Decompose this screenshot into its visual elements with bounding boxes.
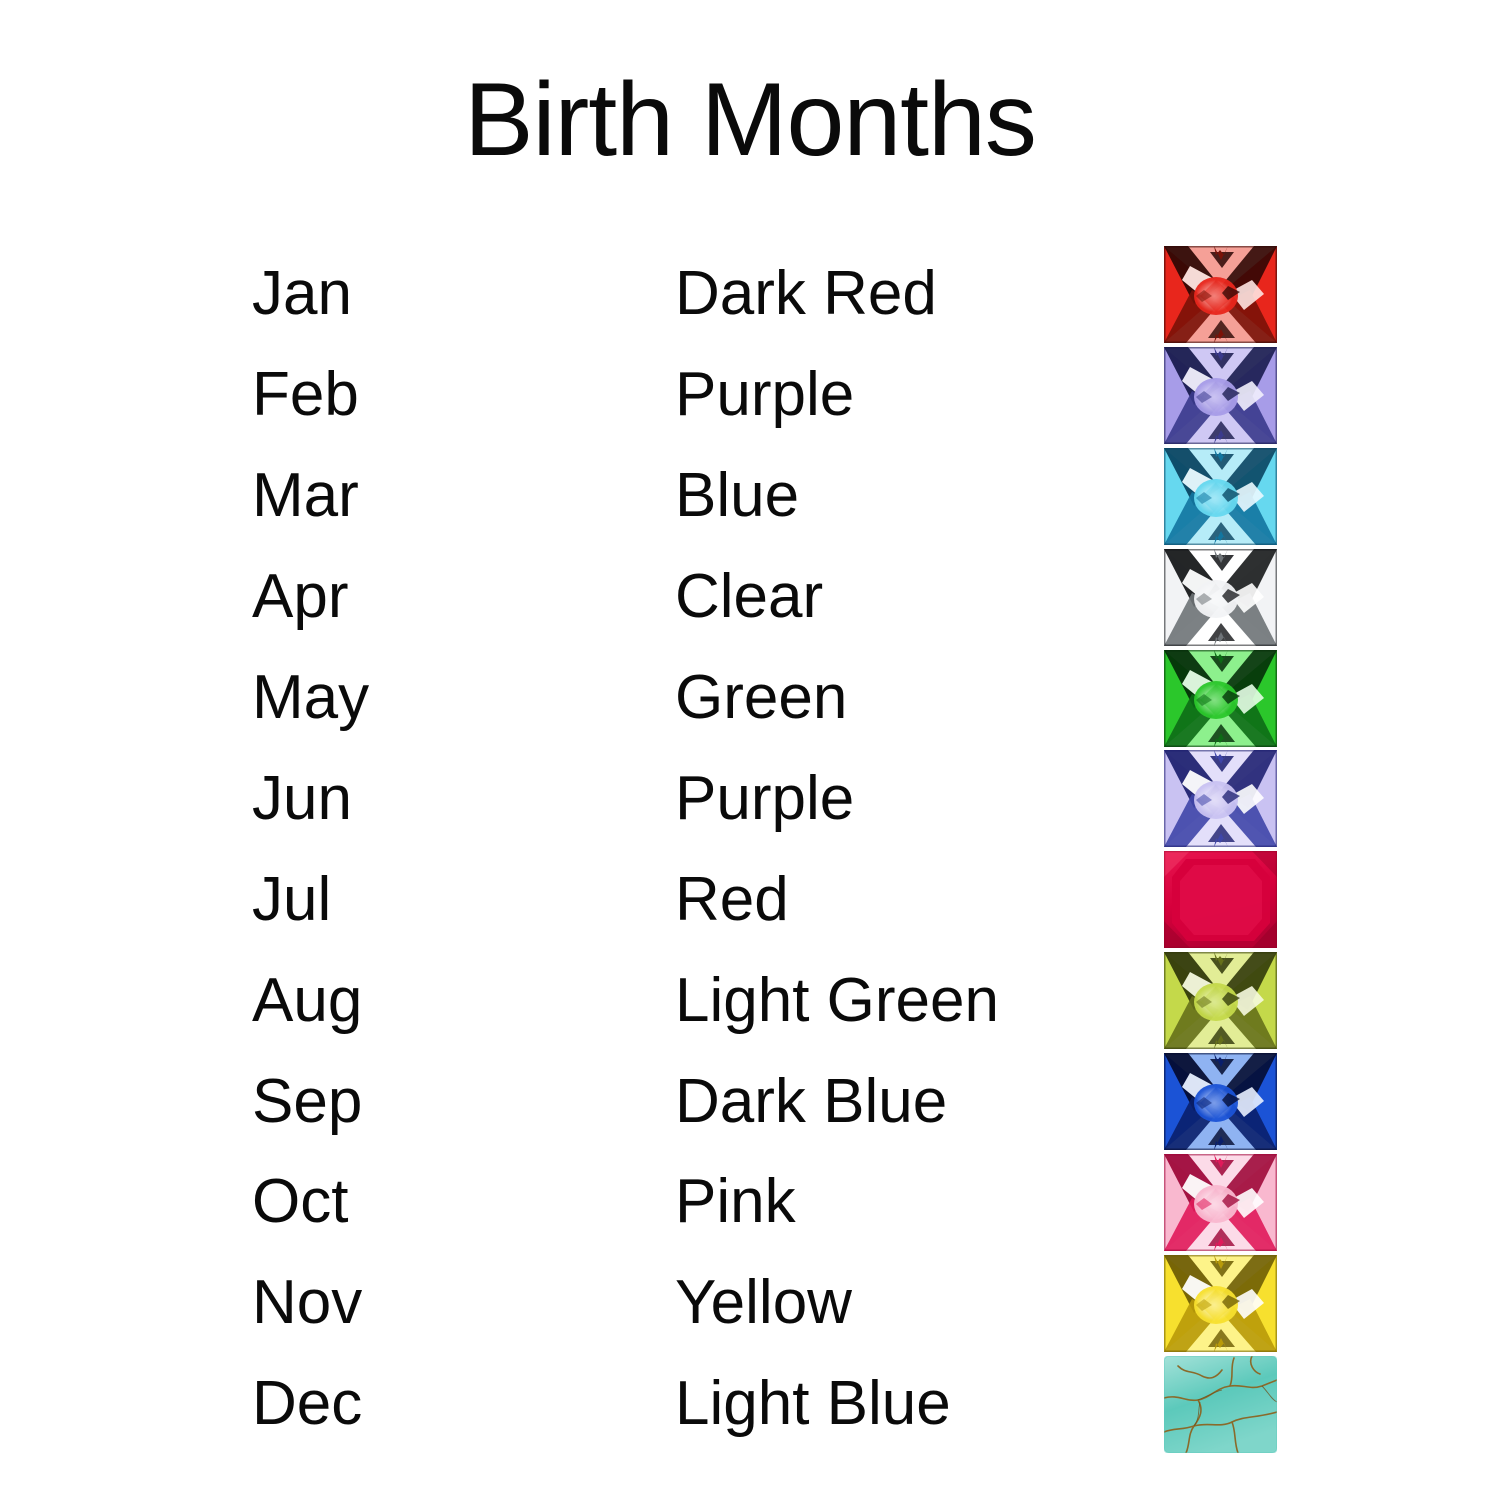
color-name-label: Blue [675, 446, 799, 547]
month-label: Apr [252, 547, 348, 648]
color-name-label: Purple [675, 345, 854, 446]
amethyst-gem-icon [1164, 347, 1277, 444]
gemstone-cell [1164, 1356, 1277, 1453]
table-row: NovYellow [0, 1253, 1500, 1354]
table-row: AugLight Green [0, 950, 1500, 1051]
ruby-gem-icon [1164, 851, 1277, 948]
month-label: Jan [252, 244, 352, 345]
alexandrite-gem-icon [1164, 750, 1277, 847]
month-label: Feb [252, 345, 359, 446]
color-name-label: Light Green [675, 950, 999, 1051]
table-row: OctPink [0, 1152, 1500, 1253]
table-row: JunPurple [0, 748, 1500, 849]
birthstone-table: JanDark Red [0, 244, 1500, 1455]
color-name-label: Purple [675, 748, 854, 849]
gemstone-cell [1164, 347, 1277, 444]
gemstone-cell [1164, 549, 1277, 646]
table-row: FebPurple [0, 345, 1500, 446]
diamond-gem-icon [1164, 549, 1277, 646]
month-label: Dec [252, 1354, 362, 1455]
month-label: Oct [252, 1152, 348, 1253]
page-title: Birth Months [0, 68, 1500, 172]
month-label: Jun [252, 748, 352, 849]
table-row: MarBlue [0, 446, 1500, 547]
color-name-label: Dark Blue [675, 1051, 947, 1152]
gemstone-cell [1164, 1154, 1277, 1251]
turquoise-gem-icon [1164, 1356, 1277, 1453]
color-name-label: Light Blue [675, 1354, 951, 1455]
color-name-label: Yellow [675, 1253, 852, 1354]
tourmaline-gem-icon [1164, 1154, 1277, 1251]
color-name-label: Red [675, 849, 789, 950]
gemstone-cell [1164, 1053, 1277, 1150]
sapphire-gem-icon [1164, 1053, 1277, 1150]
table-row: DecLight Blue [0, 1354, 1500, 1455]
table-row: MayGreen [0, 648, 1500, 749]
color-name-label: Dark Red [675, 244, 937, 345]
gemstone-cell [1164, 1255, 1277, 1352]
table-row: AprClear [0, 547, 1500, 648]
table-row: JanDark Red [0, 244, 1500, 345]
gemstone-cell [1164, 246, 1277, 343]
table-row: JulRed [0, 849, 1500, 950]
citrine-gem-icon [1164, 1255, 1277, 1352]
gemstone-cell [1164, 448, 1277, 545]
month-label: May [252, 648, 369, 749]
month-label: Mar [252, 446, 359, 547]
gemstone-cell [1164, 750, 1277, 847]
color-name-label: Clear [675, 547, 823, 648]
month-label: Sep [252, 1051, 362, 1152]
garnet-gem-icon [1164, 246, 1277, 343]
table-row: SepDark Blue [0, 1051, 1500, 1152]
month-label: Nov [252, 1253, 362, 1354]
month-label: Jul [252, 849, 331, 950]
gemstone-cell [1164, 650, 1277, 747]
color-name-label: Pink [675, 1152, 796, 1253]
gemstone-cell [1164, 952, 1277, 1049]
month-label: Aug [252, 950, 362, 1051]
peridot-gem-icon [1164, 952, 1277, 1049]
emerald-gem-icon [1164, 650, 1277, 747]
aquamarine-gem-icon [1164, 448, 1277, 545]
gemstone-cell [1164, 851, 1277, 948]
color-name-label: Green [675, 648, 847, 749]
